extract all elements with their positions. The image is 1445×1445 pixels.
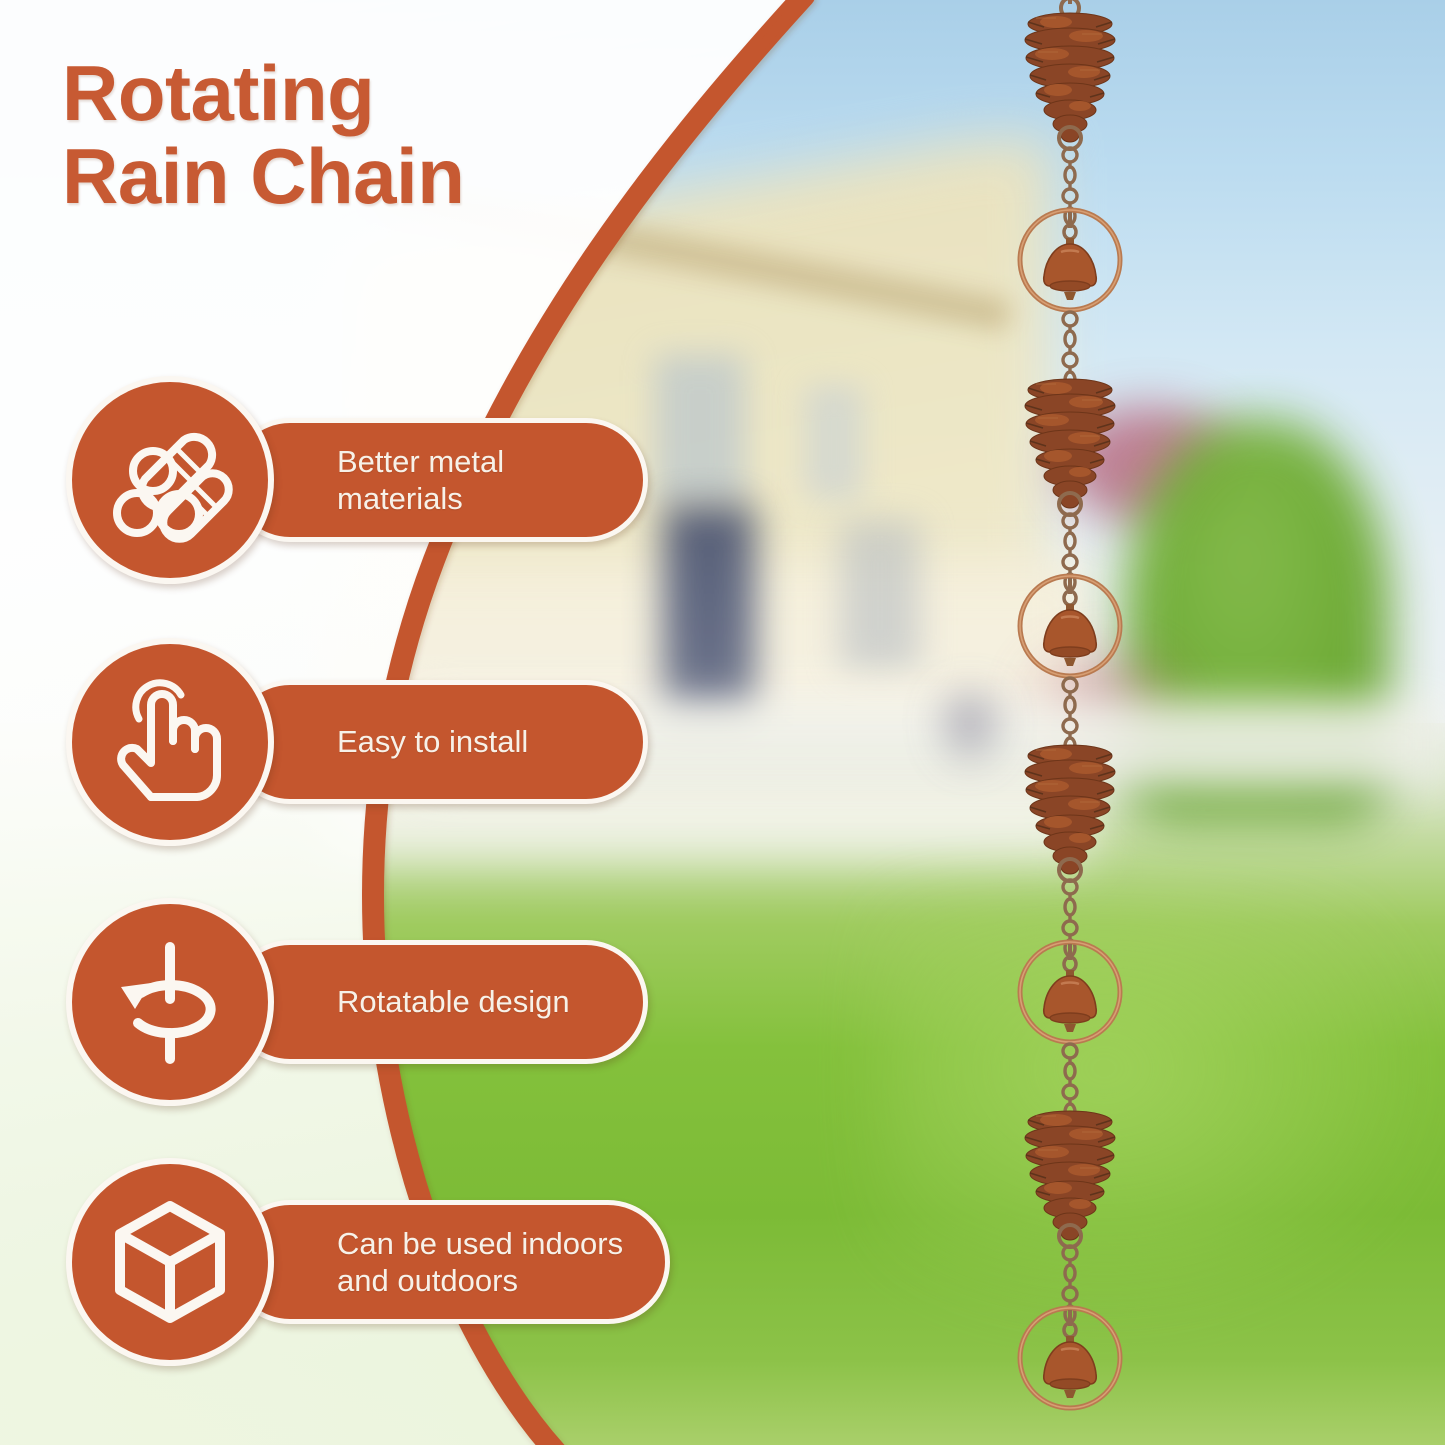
feature-label: Can be used indoors and outdoors <box>337 1225 623 1299</box>
page-title: Rotating Rain Chain <box>62 52 702 217</box>
window-lower-right <box>840 520 920 670</box>
product-feature-poster: Rotating Rain Chain <box>0 0 1445 1445</box>
feature-label: Easy to install <box>337 723 528 760</box>
feature-pill: Can be used indoors and outdoors <box>228 1200 670 1324</box>
grass-highlight <box>880 900 1440 1320</box>
feature-pill: Better metal materials <box>228 418 648 542</box>
distant-figure <box>935 690 1005 770</box>
front-door <box>663 505 755 720</box>
feature-label: Rotatable design <box>337 983 570 1020</box>
stacked-metal-pipes-icon <box>66 376 274 584</box>
feature-item-easy-to-install[interactable]: Easy to install <box>66 637 648 847</box>
cube-box-icon <box>66 1158 274 1366</box>
feature-label: Better metal materials <box>337 443 504 517</box>
feature-pill: Rotatable design <box>228 940 648 1064</box>
feature-item-better-metal-materials[interactable]: Better metal materials <box>66 375 648 585</box>
feature-item-rotatable-design[interactable]: Rotatable design <box>66 897 648 1107</box>
window-upper-right <box>805 385 863 500</box>
feature-pill: Easy to install <box>228 680 648 804</box>
pointing-hand-tap-icon <box>66 638 274 846</box>
feature-item-indoor-outdoor-use[interactable]: Can be used indoors and outdoors <box>66 1157 670 1367</box>
rotate-around-axis-icon <box>66 898 274 1106</box>
window-upper-left <box>655 355 745 505</box>
